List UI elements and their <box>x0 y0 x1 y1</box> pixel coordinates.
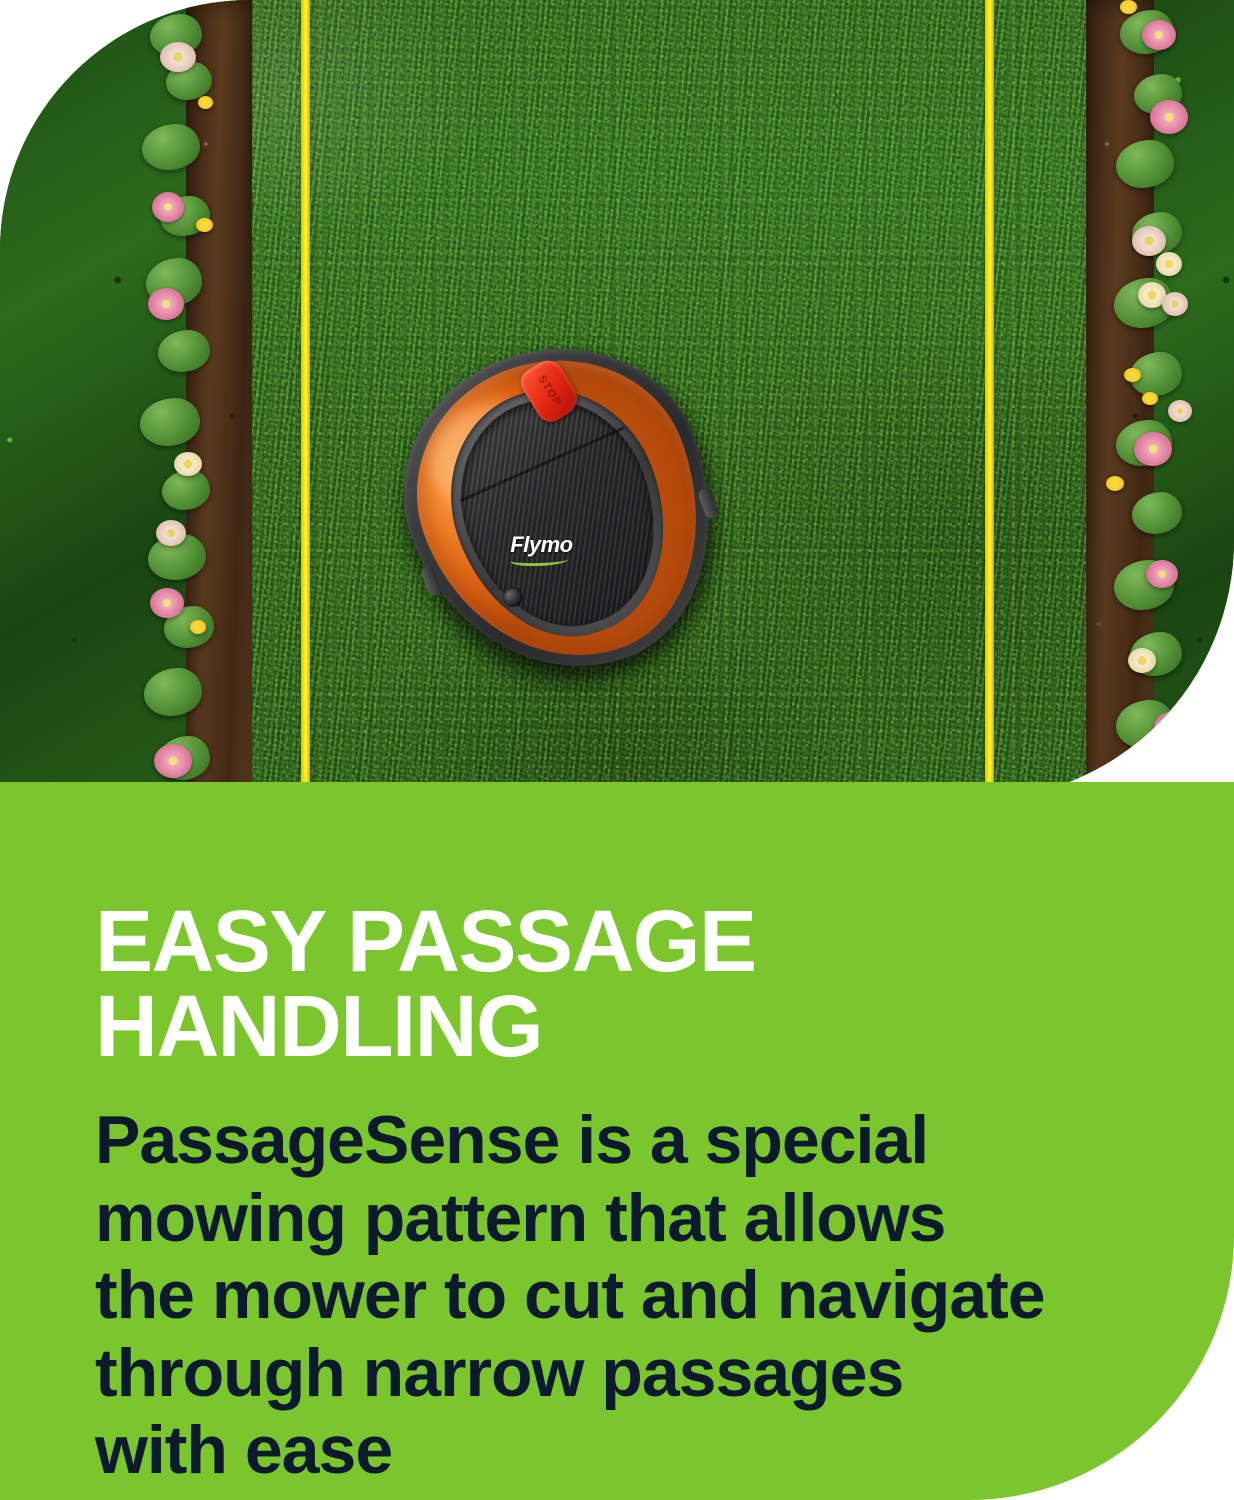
daisy-flower <box>156 520 186 546</box>
daisy-flower <box>196 218 213 232</box>
daisy-flower <box>160 42 196 72</box>
daisy-flower <box>1156 252 1182 276</box>
daisy-flower <box>1134 432 1172 466</box>
daisy-flower <box>152 192 184 222</box>
product-photo: STOP Flymo <box>0 0 1234 800</box>
flower-bed-left <box>0 0 258 800</box>
daisy-flower <box>1106 476 1124 491</box>
daisy-flower <box>1120 0 1137 14</box>
daisy-flower <box>148 288 184 320</box>
daisy-flower <box>1132 226 1166 256</box>
flymo-wordmark: Flymo <box>510 534 596 556</box>
stop-button-label: STOP <box>536 373 564 408</box>
daisy-flower <box>154 744 192 778</box>
daisy-flower <box>1142 20 1176 50</box>
yellow-guide-line-right <box>985 0 994 800</box>
daisy-flower <box>198 96 213 109</box>
daisy-flower <box>1128 648 1156 673</box>
daisy-flower <box>1142 392 1158 405</box>
flymo-logo: Flymo <box>510 534 596 566</box>
daisy-flower <box>150 588 184 618</box>
daisy-flower <box>1150 100 1188 134</box>
daisy-flower <box>1168 400 1192 422</box>
product-feature-card: STOP Flymo EASY PASSAGE HANDLING Passage… <box>0 0 1234 1500</box>
flower-bed-right <box>1058 0 1234 800</box>
daisy-flower <box>190 620 206 634</box>
yellow-guide-line-left <box>301 0 310 800</box>
feature-description: PassageSense is a special mowing pattern… <box>95 1102 1155 1490</box>
daisy-flower <box>174 452 202 476</box>
daisy-flower <box>1124 368 1141 382</box>
feature-heading: EASY PASSAGE HANDLING <box>95 900 1095 1069</box>
flymo-swoosh-icon <box>509 554 569 566</box>
daisy-flower <box>1162 292 1188 316</box>
daisy-flower <box>1154 712 1188 742</box>
daisy-flower <box>1146 560 1178 588</box>
feature-text-panel: EASY PASSAGE HANDLING PassageSense is a … <box>0 782 1234 1500</box>
